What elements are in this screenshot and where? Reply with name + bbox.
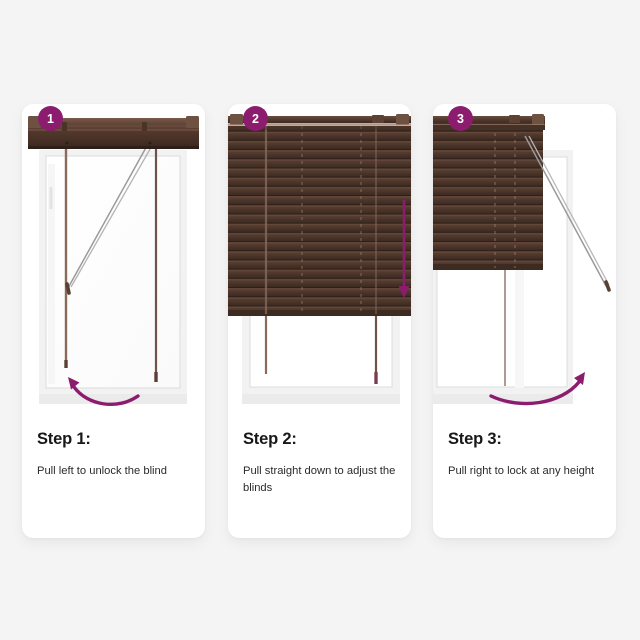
- step-title-3: Step 3:: [448, 430, 613, 449]
- headrail-bracket: [509, 115, 520, 123]
- illustration-step-2: [228, 104, 411, 414]
- illustration-step-3: [433, 104, 616, 414]
- instruction-graphic: Step 1: Pull left to unlock the blind: [0, 0, 640, 640]
- blind-slats: [433, 126, 543, 268]
- step-card-3: Step 3: Pull right to lock at any height: [433, 104, 616, 538]
- headrail-endcap-right: [532, 114, 544, 125]
- step-description-1: Pull left to unlock the blind: [37, 463, 202, 480]
- blind-slats: [228, 126, 411, 314]
- headrail-endcap-right: [396, 114, 409, 125]
- blind-bottom-rail: [228, 310, 411, 316]
- window-mullion: [515, 264, 524, 388]
- step-number-badge-3: 3: [448, 106, 473, 131]
- headrail-screw-right: [149, 142, 152, 145]
- window-sill: [242, 394, 400, 404]
- blind-bottom-rail: [433, 264, 543, 270]
- step-number-badge-1: 1: [38, 106, 63, 131]
- step-description-2: Pull straight down to adjust the blinds: [243, 463, 408, 497]
- step-text-3: Step 3: Pull right to lock at any height: [448, 430, 613, 480]
- headrail-screw-left: [66, 142, 69, 145]
- headrail-endcap-right: [186, 116, 199, 128]
- step-title-1: Step 1:: [37, 430, 202, 449]
- step-card-1: Step 1: Pull left to unlock the blind: [22, 104, 205, 538]
- headrail-bottom-edge: [28, 146, 199, 149]
- step-card-2: Step 2: Pull straight down to adjust the…: [228, 104, 411, 538]
- headrail-bracket-left: [62, 122, 67, 131]
- step-number-badge-2: 2: [243, 106, 268, 131]
- step-text-1: Step 1: Pull left to unlock the blind: [37, 430, 202, 480]
- headrail-endcap-left: [230, 114, 243, 125]
- step-title-2: Step 2:: [243, 430, 408, 449]
- illustration-step-1: [22, 104, 205, 414]
- headrail-bracket-right: [142, 122, 147, 131]
- pull-cord-tassel: [67, 284, 69, 293]
- window-sill: [39, 394, 187, 404]
- step-description-3: Pull right to lock at any height: [448, 463, 613, 480]
- headrail-bracket: [372, 115, 384, 123]
- step-text-2: Step 2: Pull straight down to adjust the…: [243, 430, 408, 497]
